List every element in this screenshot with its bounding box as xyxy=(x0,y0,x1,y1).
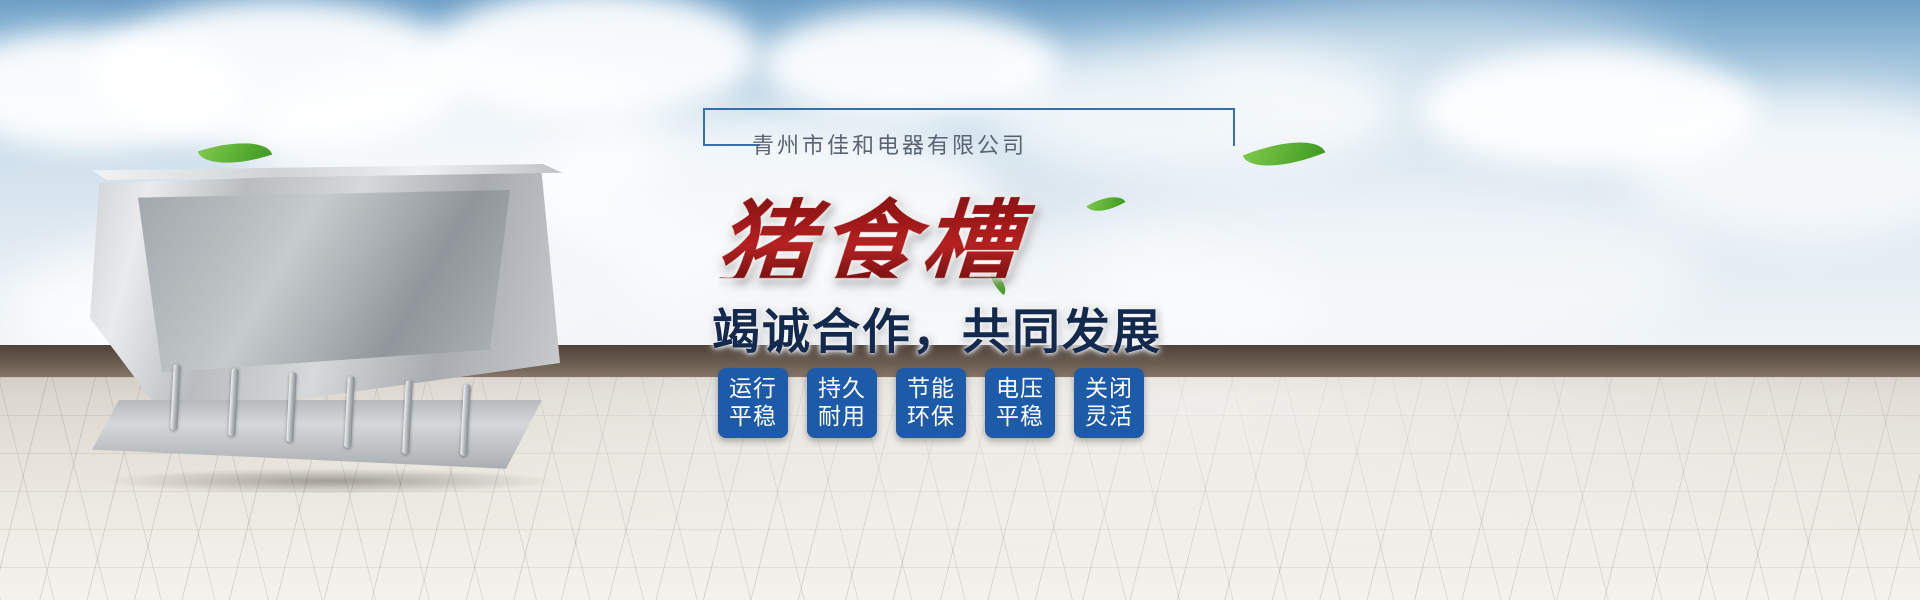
feature-badge-list: 运行 平稳 持久 耐用 节能 环保 电压 平稳 关闭 灵活 xyxy=(718,368,1144,438)
trough-interior xyxy=(122,190,522,380)
feature-badge[interactable]: 持久 耐用 xyxy=(807,368,877,438)
feature-line-2: 环保 xyxy=(907,403,955,431)
feature-badge[interactable]: 节能 环保 xyxy=(896,368,966,438)
feature-line-2: 平稳 xyxy=(729,403,777,431)
product-shadow xyxy=(100,468,560,494)
feature-badge[interactable]: 电压 平稳 xyxy=(985,368,1055,438)
promo-banner: 青州市佳和电器有限公司 猪食槽 竭诚合作，共同发展 运行 平稳 持久 耐用 节能… xyxy=(0,0,1920,600)
feature-line-2: 耐用 xyxy=(818,403,866,431)
tagline: 竭诚合作，共同发展 xyxy=(712,292,1232,362)
company-name: 青州市佳和电器有限公司 xyxy=(752,128,1232,160)
feature-line-1: 运行 xyxy=(729,375,777,403)
feature-line-1: 持久 xyxy=(818,375,866,403)
product-photo-feeding-trough xyxy=(60,150,580,480)
feature-line-1: 关闭 xyxy=(1085,375,1133,403)
feature-line-1: 节能 xyxy=(907,375,955,403)
feature-badge[interactable]: 关闭 灵活 xyxy=(1074,368,1144,438)
feature-line-2: 灵活 xyxy=(1085,403,1133,431)
page-title: 猪食槽 xyxy=(714,168,1282,278)
feature-line-1: 电压 xyxy=(996,375,1044,403)
feature-badge[interactable]: 运行 平稳 xyxy=(718,368,788,438)
feature-line-2: 平稳 xyxy=(996,403,1044,431)
